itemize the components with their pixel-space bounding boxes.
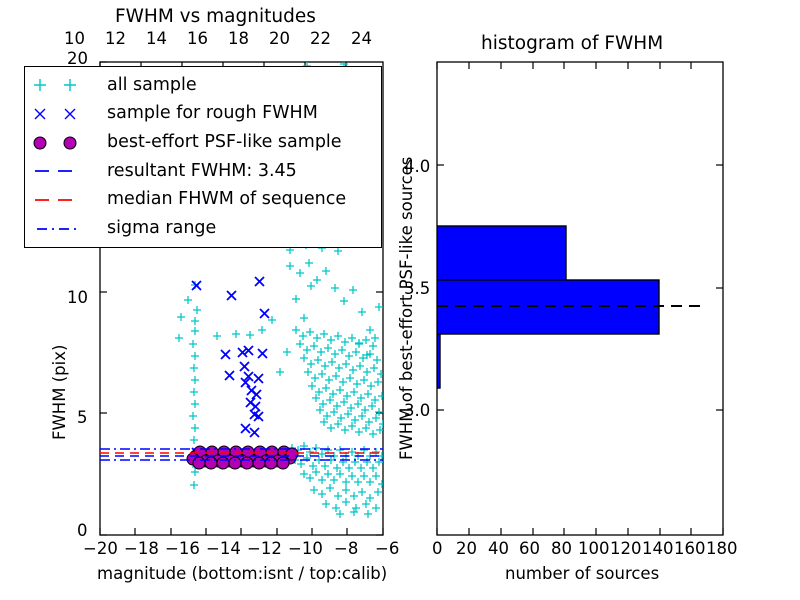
series-rough-fwhm-sample bbox=[192, 277, 269, 457]
legend-label: resultant FWHM: 3.45 bbox=[107, 163, 297, 181]
legend-item-psf-like: best-effort PSF-like sample bbox=[25, 129, 381, 157]
circle-marker-icon bbox=[25, 130, 107, 156]
legend-item-resultant-fwhm: resultant FWHM: 3.45 bbox=[25, 157, 381, 185]
legend-item-median-fhwm: median FHWM of sequence bbox=[25, 186, 381, 214]
dash-dot-line-icon bbox=[25, 216, 107, 242]
figure-canvas: FWHM vs magnitudes 10 12 14 16 18 20 22 … bbox=[0, 0, 800, 600]
legend: all sample sample for rough FWHM bbox=[24, 66, 382, 248]
legend-item-sigma-range: sigma range bbox=[25, 215, 381, 243]
legend-item-all-sample: all sample bbox=[25, 71, 381, 99]
dashed-line-icon bbox=[25, 158, 107, 184]
legend-item-rough-fwhm: sample for rough FWHM bbox=[25, 100, 381, 128]
plus-marker-icon bbox=[25, 72, 107, 98]
histogram-bar bbox=[437, 226, 566, 280]
legend-label: all sample bbox=[107, 77, 197, 95]
histogram-bar bbox=[437, 334, 440, 388]
legend-label: median FHWM of sequence bbox=[107, 191, 346, 209]
legend-label: sigma range bbox=[107, 220, 216, 238]
dashed-line-icon bbox=[25, 187, 107, 213]
legend-label: sample for rough FWHM bbox=[107, 105, 318, 123]
cross-marker-icon bbox=[25, 101, 107, 127]
legend-label: best-effort PSF-like sample bbox=[107, 134, 342, 152]
